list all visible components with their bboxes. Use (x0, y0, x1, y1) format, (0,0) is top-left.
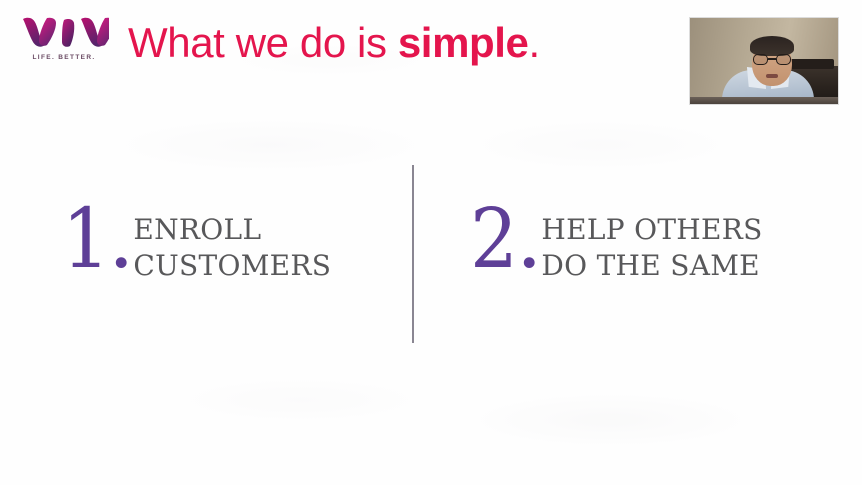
viv-logo: LIFE. BETTER. (16, 16, 112, 61)
presenter-mouth (766, 74, 778, 78)
point-1-text: ENROLL CUSTOMERS (133, 202, 331, 284)
slide-header: LIFE. BETTER. What we do is simple. (0, 0, 862, 100)
point-2-numeral-dot: . (519, 221, 539, 274)
presenter-hair (750, 36, 794, 56)
glasses-lens-right (776, 54, 791, 65)
slide-body: 1 . ENROLL CUSTOMERS 2 . HELP OTHERS DO … (0, 150, 862, 360)
point-1-line-2: CUSTOMERS (133, 248, 331, 284)
point-item-1: 1 . ENROLL CUSTOMERS (62, 202, 331, 284)
presenter-video-feed[interactable] (690, 18, 838, 104)
presentation-slide: LIFE. BETTER. What we do is simple. (0, 0, 862, 485)
point-2-numeral-group: 2 . (470, 202, 539, 277)
point-1-line-1: ENROLL (133, 212, 331, 248)
point-1-numeral: 1 (62, 202, 109, 277)
video-furniture-top (790, 59, 834, 69)
point-2-text: HELP OTHERS DO THE SAME (541, 202, 762, 284)
column-divider (412, 165, 414, 343)
glasses-lens-left (753, 54, 768, 65)
point-2-line-1: HELP OTHERS (541, 212, 762, 248)
point-2-numeral: 2 (470, 202, 517, 277)
point-1-numeral-dot: . (111, 221, 131, 274)
slide-title: What we do is simple. (128, 19, 540, 67)
glasses-bridge (768, 58, 776, 60)
video-desk-edge (690, 97, 838, 104)
slide-title-bold: simple (398, 19, 529, 66)
point-2-line-2: DO THE SAME (541, 248, 762, 284)
presenter-glasses-icon (753, 54, 791, 65)
point-item-2: 2 . HELP OTHERS DO THE SAME (470, 202, 763, 284)
slide-title-period: . (529, 19, 540, 66)
slide-title-normal: What we do is (128, 19, 398, 66)
logo-tagline: LIFE. BETTER. (16, 54, 112, 61)
point-1-numeral-group: 1 . (62, 202, 131, 277)
viv-logo-icon (19, 16, 109, 50)
